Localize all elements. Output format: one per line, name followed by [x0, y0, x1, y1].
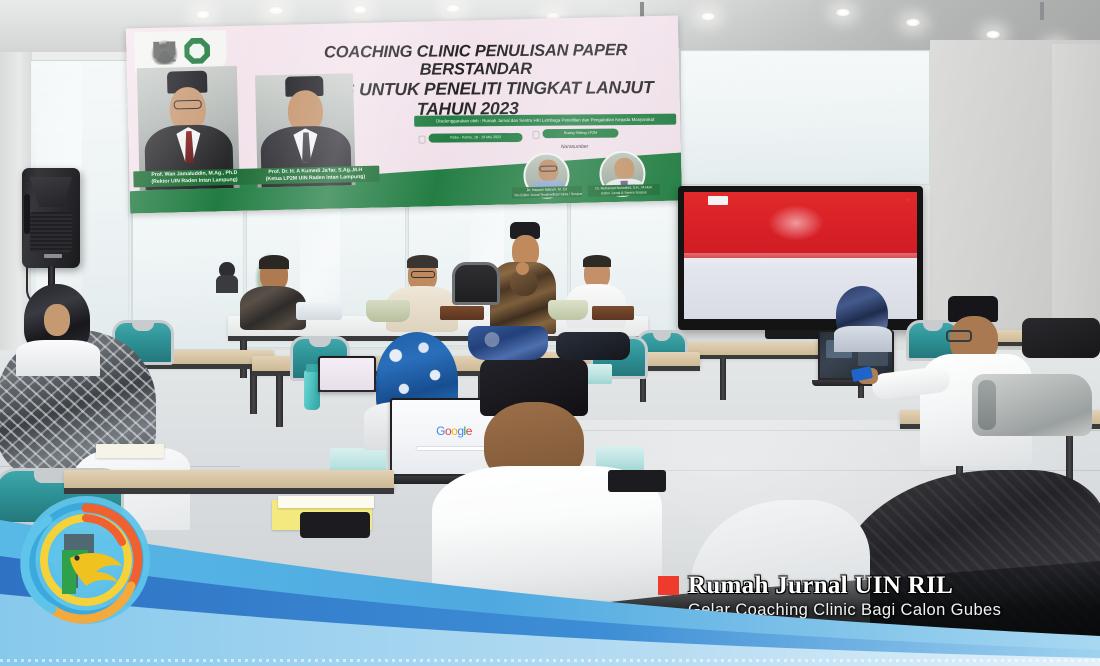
snack-box — [440, 306, 484, 320]
banner-date-chip: Rabu - Kamis, 18 - 19 Mei 2023 — [429, 133, 523, 143]
laptop-back-left-screen — [320, 358, 374, 390]
tv-screen-tag — [708, 196, 728, 205]
fruit-basket — [366, 300, 410, 322]
logo-svg — [18, 492, 154, 628]
caption-subtitle: Gelar Coaching Clinic Bagi Calon Gubes — [688, 601, 1088, 620]
tablet-on-desk[interactable] — [608, 470, 666, 492]
bag-center — [468, 326, 548, 360]
bottle-cap — [306, 364, 318, 372]
panelist-2-hair — [407, 255, 438, 268]
speaker-horn — [30, 177, 72, 207]
panelist-1-hair — [259, 255, 289, 269]
tv-record-dot-icon — [906, 198, 910, 202]
banner-portrait-2-name: Prof. Dr. H. A Kumedi Ja'far, S.Ag.,M.H … — [251, 166, 379, 185]
downlight-icon — [835, 8, 851, 17]
rumah-jurnal-logo-icon — [18, 492, 154, 628]
downlight-icon — [905, 18, 921, 27]
speaker-hand — [516, 262, 529, 275]
glasses-icon — [411, 271, 435, 278]
bag-dark-right — [1022, 318, 1100, 358]
banner-speaker-2-name: Dr. Muhamad Nurwahid, S.H., M.Hum Editor… — [588, 184, 660, 197]
table-foreground — [64, 470, 394, 490]
water-bottles — [296, 302, 342, 320]
banner-place-chip: Ruang Sidang LP2M — [542, 129, 618, 139]
fruit-basket — [548, 300, 588, 320]
downlight-icon — [268, 6, 284, 15]
participant-back-dark — [216, 262, 238, 292]
bag-center-dark — [556, 332, 630, 360]
snack-box — [592, 306, 634, 320]
seminar-photo: COACHING CLINIC PENULISAN PAPER BERSTAND… — [0, 0, 1100, 666]
speaker-side-handle — [24, 194, 30, 234]
event-banner: COACHING CLINIC PENULISAN PAPER BERSTAND… — [126, 16, 682, 214]
pa-speaker — [22, 168, 80, 268]
table-leg — [720, 358, 726, 400]
participant-hijab-black-face — [44, 304, 70, 336]
flag-wave — [684, 253, 917, 267]
kemenag-logo-icon — [151, 38, 178, 65]
ceiling-rod — [1040, 2, 1044, 20]
papers-left — [96, 444, 164, 458]
speaker-brand-logo — [44, 254, 62, 258]
caption-bullet-icon — [658, 576, 679, 595]
participant-hijab-black — [16, 284, 100, 376]
downlight-icon — [985, 30, 1001, 39]
banner-speaker-1-name: Dr. Harpani Matnuh, M. Ed Tim Editor Jur… — [512, 186, 582, 199]
caption-block: Rumah Jurnal UIN RIL Gelar Coaching Clin… — [688, 573, 1088, 620]
downlight-icon — [445, 4, 461, 13]
participant-hijab-black-shoulders — [16, 340, 100, 376]
screen-glare — [768, 205, 824, 241]
glasses-icon — [174, 100, 202, 110]
banner-portrait-1-name: Prof. Wan Jamaluddin, M.Ag., Ph.D (Rekto… — [133, 169, 255, 188]
banner-narasumber-label: Narasumber — [561, 144, 589, 150]
backpack-strap — [978, 380, 996, 430]
banner-organizer-bar: Diselenggarakan oleh : Rumah Jurnal dan … — [414, 114, 676, 127]
phone-on-desk[interactable] — [300, 512, 370, 538]
table-leg — [276, 375, 283, 427]
downlight-icon — [195, 10, 211, 19]
laptop-back-left[interactable] — [318, 356, 376, 392]
downlight-icon — [700, 12, 716, 21]
participant-hijab-navy-shoulders — [834, 326, 892, 352]
glass-partition — [680, 50, 930, 185]
participant-hijab-navy — [826, 286, 896, 352]
papers-stack — [278, 496, 374, 508]
uin-raden-intan-logo-icon — [184, 38, 211, 65]
panelist-3-hair — [583, 255, 611, 267]
speaker-grille — [30, 212, 72, 252]
caption-title: Rumah Jurnal UIN RIL — [688, 573, 1088, 598]
glasses-icon — [946, 330, 972, 342]
downlight-icon — [352, 5, 368, 14]
